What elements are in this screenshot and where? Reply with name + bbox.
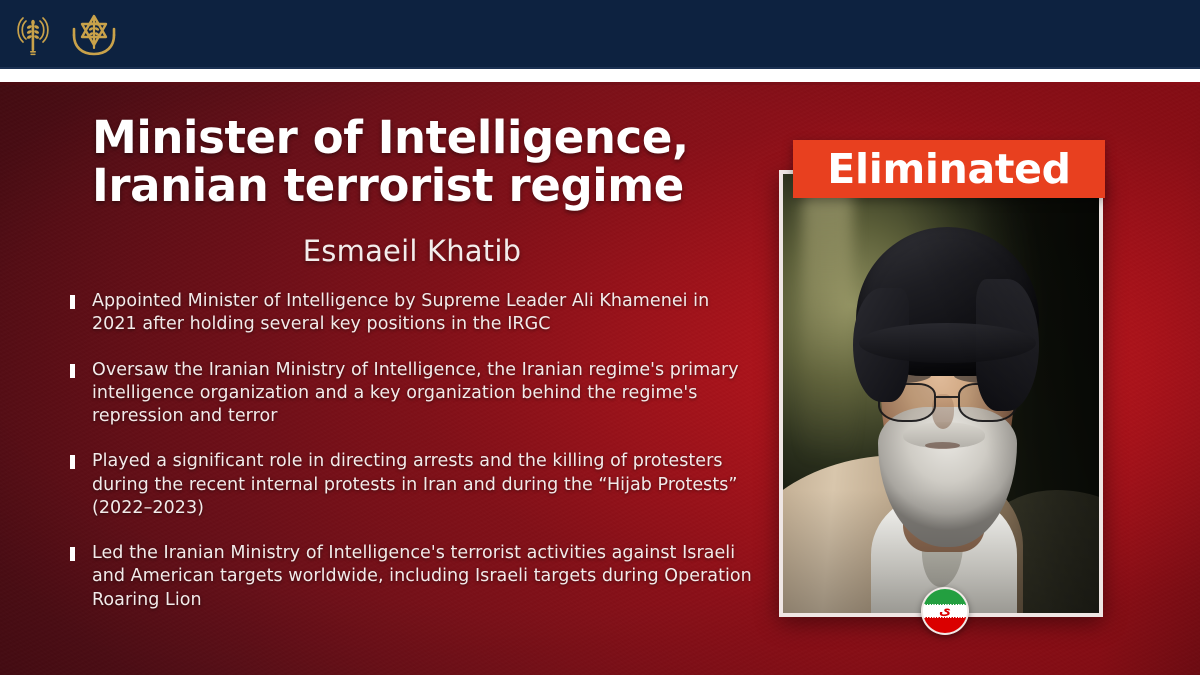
list-item-text: Appointed Minister of Intelligence by Su…	[92, 290, 756, 337]
header-logos	[14, 11, 122, 59]
text-column: Minister of Intelligence, Iranian terror…	[0, 82, 760, 675]
bullet-list: Appointed Minister of Intelligence by Su…	[66, 290, 756, 612]
slide-stage: Minister of Intelligence, Iranian terror…	[0, 82, 1200, 675]
page-title-line-2: Iranian terrorist regime	[92, 162, 732, 210]
idf-emblem-logo-icon	[66, 11, 122, 59]
list-item: Oversaw the Iranian Ministry of Intellig…	[66, 359, 756, 429]
list-item-text: Led the Iranian Ministry of Intelligence…	[92, 542, 756, 612]
status-badge-label: Eliminated	[827, 149, 1071, 190]
status-badge: Eliminated	[793, 140, 1105, 198]
portrait-mouth	[925, 442, 960, 449]
bullet-marker-icon	[70, 295, 75, 309]
bullet-marker-icon	[70, 364, 75, 378]
bullet-marker-icon	[70, 547, 75, 561]
header-hairline	[0, 67, 1200, 69]
list-item-text: Played a significant role in directing a…	[92, 450, 756, 520]
iran-flag-inner: ی	[923, 589, 967, 633]
list-item: Played a significant role in directing a…	[66, 450, 756, 520]
list-item: Led the Iranian Ministry of Intelligence…	[66, 542, 756, 612]
page-subtitle: Esmaeil Khatib	[92, 234, 732, 268]
portrait-glasses-bridge	[936, 396, 958, 398]
page-title-line-1: Minister of Intelligence,	[92, 114, 732, 162]
iran-flag-badge-icon: ی	[921, 587, 969, 635]
flag-stripe-red	[923, 618, 967, 633]
page-title: Minister of Intelligence, Iranian terror…	[92, 114, 732, 209]
portrait-background-highlight	[802, 174, 853, 464]
list-item: Appointed Minister of Intelligence by Su…	[66, 290, 756, 337]
header-bar	[0, 0, 1200, 69]
slide-root: Minister of Intelligence, Iranian terror…	[0, 0, 1200, 675]
portrait-turban-band	[859, 323, 1036, 363]
header-white-strip	[0, 69, 1200, 82]
portrait-column: Eliminated ی	[760, 82, 1200, 675]
portrait-frame	[779, 170, 1103, 617]
idf-broadcast-logo-icon	[14, 13, 52, 57]
portrait-photo	[783, 174, 1099, 613]
flag-emblem-icon: ی	[939, 605, 951, 618]
bullet-marker-icon	[70, 455, 75, 469]
list-item-text: Oversaw the Iranian Ministry of Intellig…	[92, 359, 756, 429]
